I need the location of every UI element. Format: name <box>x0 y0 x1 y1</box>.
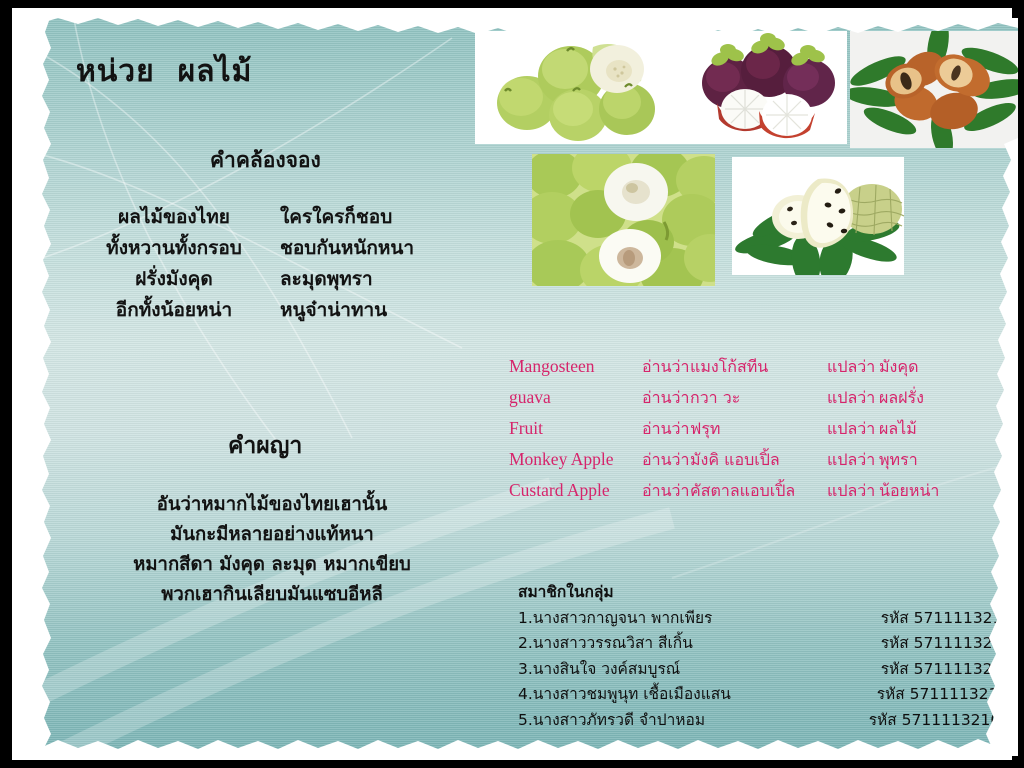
poem-line-right: หนูจ๋าน่าทาน <box>280 295 470 326</box>
vocabulary-english: Mangosteen <box>509 351 642 381</box>
vocabulary-read-label: อ่านว่า <box>642 352 690 382</box>
members-heading: สมาชิกในกลุ่ม <box>518 580 1018 606</box>
member-row: 4.นางสาวชมพูนุท เชื้อเมืองแสน รหัส 57111… <box>518 682 1018 708</box>
member-id: รหัส 571111321012 <box>813 682 1018 708</box>
poem-line: ผลไม้ของไทย ใครใครก็ชอบ <box>68 202 488 233</box>
saying-line: อันว่าหมากไม้ของไทยเฮานั้น <box>62 490 482 520</box>
vocabulary-read-label: อ่านว่า <box>642 445 690 475</box>
vocabulary-english: Fruit <box>509 413 642 443</box>
poem-line: อีกทั้งน้อยหน่า หนูจ๋าน่าทาน <box>68 295 488 326</box>
vocabulary-mean-label: แปลว่า <box>827 414 879 444</box>
poem-block: ผลไม้ของไทย ใครใครก็ชอบ ทั้งหวานทั้งกรอบ… <box>68 202 488 326</box>
vocabulary-reading: มังคิ แอบเปิ้ล <box>690 445 827 475</box>
saying-line: มันกะมีหลายอย่างแท้หนา <box>62 520 482 550</box>
poem-line-left: ฝรั่งมังคุด <box>68 264 280 295</box>
vocabulary-reading: แมงโก้สทีน <box>690 352 827 382</box>
vocabulary-row: guava อ่านว่า กวา วะ แปลว่า ผลฝรั่ง <box>509 382 1018 413</box>
poem-line-right: ละมุดพุทรา <box>280 264 470 295</box>
vocabulary-read-label: อ่านว่า <box>642 476 690 506</box>
guava-photo <box>475 31 687 144</box>
saying-line: หมากสีดา มังคุด ละมุด หมากเขียบ <box>62 550 482 580</box>
vocabulary-row: Mangosteen อ่านว่า แมงโก้สทีน แปลว่า มัง… <box>509 351 1018 382</box>
member-row: 1.นางสาวกาญจนา พากเพียร รหัส 57111132100… <box>518 606 1018 632</box>
slide-paper: หน่วย ผลไม้ คำคล้องจอง ผลไม้ของไทย ใครใค… <box>12 8 1012 760</box>
custard-apple-photo <box>732 157 904 275</box>
saying-block: อันว่าหมากไม้ของไทยเฮานั้น มันกะมีหลายอย… <box>62 490 482 610</box>
vocabulary-meaning: มังคุด <box>879 352 918 382</box>
vocabulary-mean-label: แปลว่า <box>827 352 879 382</box>
mangosteen-photo <box>687 31 847 144</box>
vocabulary-mean-label: แปลว่า <box>827 383 879 413</box>
vocabulary-meaning: น้อยหน่า <box>879 476 939 506</box>
poem-line-left: ผลไม้ของไทย <box>68 202 280 233</box>
poem-line-right: ใครใครก็ชอบ <box>280 202 470 233</box>
vocabulary-reading: ฟรุท <box>690 414 827 444</box>
member-id: รหัส 571111321013 <box>813 708 1018 734</box>
poem-heading: คำคล้องจอง <box>210 144 321 177</box>
vocabulary-mean-label: แปลว่า <box>827 445 879 475</box>
vocabulary-read-label: อ่านว่า <box>642 414 690 444</box>
vocabulary-row: Custard Apple อ่านว่า คัสตาลแอบเปิ้ล แปล… <box>509 475 1018 506</box>
jujube-photo <box>532 154 715 286</box>
vocabulary-read-label: อ่านว่า <box>642 383 690 413</box>
members-block: สมาชิกในกลุ่ม 1.นางสาวกาญจนา พากเพียร รห… <box>518 580 1018 733</box>
vocabulary-english: Custard Apple <box>509 475 642 505</box>
vocabulary-row: Monkey Apple อ่านว่า มังคิ แอบเปิ้ล แปลว… <box>509 444 1018 475</box>
vocabulary-mean-label: แปลว่า <box>827 476 879 506</box>
slide-canvas: หน่วย ผลไม้ คำคล้องจอง ผลไม้ของไทย ใครใค… <box>32 18 1018 756</box>
member-row: 3.นางสินใจ วงค์สมบูรณ์ รหัส 571111321011 <box>518 657 1018 683</box>
vocabulary-table: Mangosteen อ่านว่า แมงโก้สทีน แปลว่า มัง… <box>509 351 1018 506</box>
member-name: 5.นางสาวภัทรวดี จำปาหอม <box>518 708 813 734</box>
saying-heading: คำผญา <box>228 428 302 464</box>
page-title: หน่วย ผลไม้ <box>76 48 252 95</box>
vocabulary-row: Fruit อ่านว่า ฟรุท แปลว่า ผลไม้ <box>509 413 1018 444</box>
vocabulary-english: guava <box>509 382 642 412</box>
poem-line-left: อีกทั้งน้อยหน่า <box>68 295 280 326</box>
poem-line-left: ทั้งหวานทั้งกรอบ <box>68 233 280 264</box>
member-id: รหัส 571111321006 <box>813 631 1018 657</box>
poem-line: ทั้งหวานทั้งกรอบ ชอบกันหนักหนา <box>68 233 488 264</box>
member-id: รหัส 571111321005 <box>813 606 1018 632</box>
vocabulary-reading: คัสตาลแอบเปิ้ล <box>690 476 827 506</box>
vocabulary-meaning: พุทรา <box>879 445 918 475</box>
poem-line-right: ชอบกันหนักหนา <box>280 233 470 264</box>
member-name: 3.นางสินใจ วงค์สมบูรณ์ <box>518 657 813 683</box>
vocabulary-meaning: ผลฝรั่ง <box>879 383 924 413</box>
vocabulary-reading: กวา วะ <box>690 383 827 413</box>
saying-line: พวกเฮากินเลียบมันแซบอีหลี <box>62 580 482 610</box>
member-name: 4.นางสาวชมพูนุท เชื้อเมืองแสน <box>518 682 813 708</box>
member-name: 2.นางสาววรรณวิสา สีเกิ้น <box>518 631 813 657</box>
member-name: 1.นางสาวกาญจนา พากเพียร <box>518 606 813 632</box>
poem-line: ฝรั่งมังคุด ละมุดพุทรา <box>68 264 488 295</box>
sapodilla-photo <box>850 31 1018 148</box>
vocabulary-english: Monkey Apple <box>509 444 642 474</box>
member-row: 5.นางสาวภัทรวดี จำปาหอม รหัส 57111132101… <box>518 708 1018 734</box>
member-id: รหัส 571111321011 <box>813 657 1018 683</box>
slide-frame: หน่วย ผลไม้ คำคล้องจอง ผลไม้ของไทย ใครใค… <box>0 0 1024 768</box>
vocabulary-meaning: ผลไม้ <box>879 414 917 444</box>
member-row: 2.นางสาววรรณวิสา สีเกิ้น รหัส 5711113210… <box>518 631 1018 657</box>
